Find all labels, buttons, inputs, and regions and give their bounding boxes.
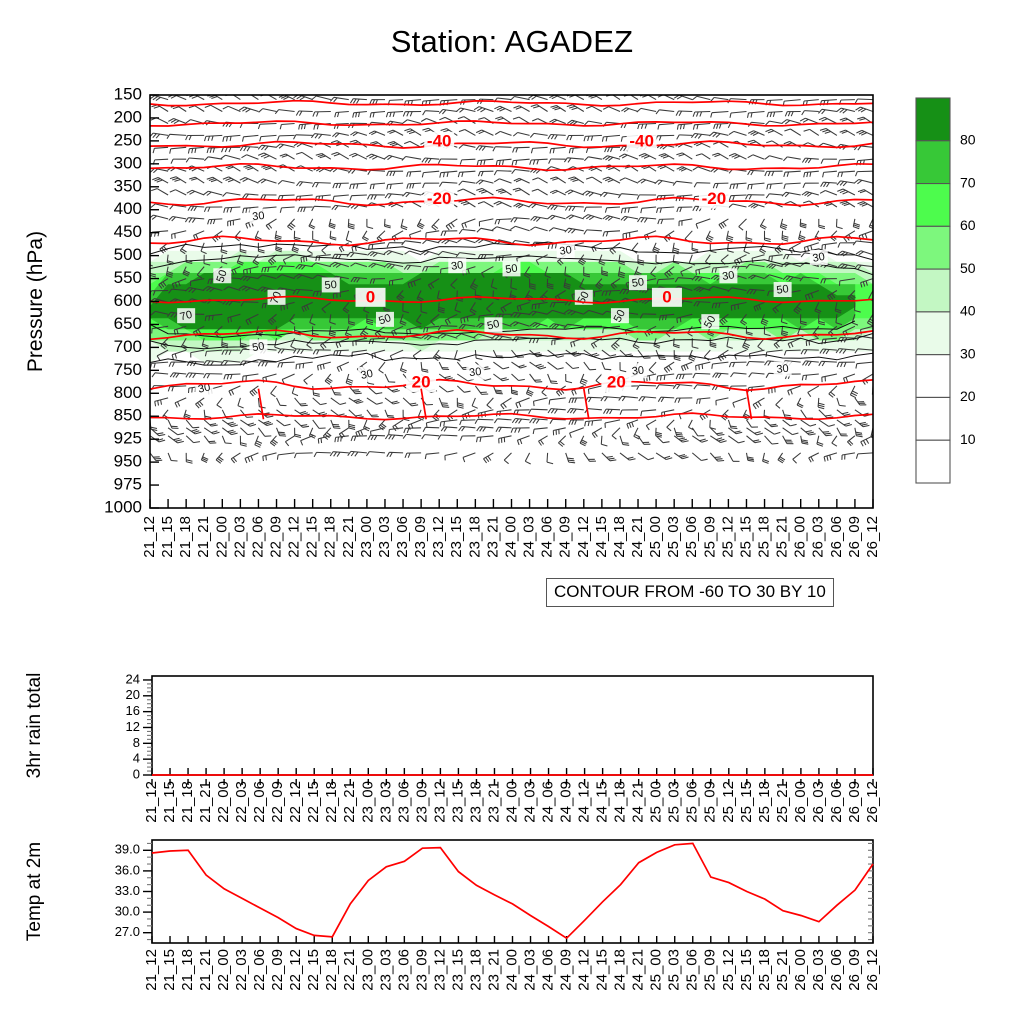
wind-barb bbox=[710, 453, 724, 461]
humidity-contour-label: 30 bbox=[360, 368, 374, 382]
pressure-tick-label: 500 bbox=[114, 245, 142, 264]
colorbar-tick-label: 80 bbox=[960, 131, 976, 147]
wind-barb bbox=[208, 219, 223, 224]
wind-barb bbox=[389, 428, 403, 435]
time-tick-label: 22_00 bbox=[215, 949, 232, 991]
wind-barb bbox=[258, 428, 271, 437]
wind-barb bbox=[496, 189, 512, 195]
temperature-contour bbox=[150, 164, 873, 171]
svg-text:22_12: 22_12 bbox=[287, 949, 304, 991]
colorbar-tick-label: 70 bbox=[960, 174, 976, 190]
wind-barb bbox=[592, 428, 602, 438]
wind-barb bbox=[765, 420, 778, 427]
wind-barb bbox=[496, 159, 511, 165]
wind-barb bbox=[433, 350, 440, 361]
wind-barb bbox=[385, 398, 399, 404]
wind-barb bbox=[151, 189, 168, 195]
wind-barb bbox=[547, 453, 553, 464]
wind-barb bbox=[532, 178, 547, 183]
wind-barb bbox=[475, 386, 488, 395]
time-tick-label: 23_06 bbox=[395, 781, 412, 823]
wind-barb bbox=[530, 419, 548, 424]
colorbar-band bbox=[916, 226, 950, 269]
wind-barb bbox=[584, 207, 602, 212]
wind-barb bbox=[584, 362, 596, 370]
wind-barb bbox=[644, 231, 656, 240]
wind-barb bbox=[697, 398, 711, 404]
time-tick-label: 22_00 bbox=[213, 516, 230, 558]
wind-barb bbox=[348, 451, 367, 456]
time-tick-label: 23_03 bbox=[376, 516, 393, 558]
wind-barb bbox=[477, 427, 494, 432]
temp-tick-label: 33.0 bbox=[115, 883, 140, 898]
wind-barb bbox=[658, 219, 674, 224]
wind-barb bbox=[337, 362, 349, 372]
svg-text:24_12: 24_12 bbox=[575, 516, 592, 558]
pressure-tick-label: 950 bbox=[114, 452, 142, 471]
wind-barb bbox=[463, 453, 475, 462]
wind-barb bbox=[566, 374, 572, 383]
time-tick-label: 26_09 bbox=[846, 516, 863, 558]
temperature-contour-label: -20 bbox=[702, 189, 727, 208]
wind-barb bbox=[255, 436, 262, 448]
wind-barb bbox=[658, 165, 675, 171]
wind-barb bbox=[270, 436, 277, 446]
pressure-tick-label: 300 bbox=[114, 153, 142, 172]
wind-barb bbox=[603, 177, 620, 183]
wind-barb bbox=[335, 436, 349, 442]
wind-barb bbox=[621, 207, 638, 213]
time-tick-label: 22_15 bbox=[305, 949, 322, 991]
wind-barb bbox=[730, 183, 747, 189]
wind-barb bbox=[602, 453, 616, 461]
wind-barb bbox=[446, 219, 457, 230]
time-tick-label: 22_06 bbox=[251, 949, 268, 991]
time-tick-label: 24_09 bbox=[557, 516, 574, 558]
wind-barb bbox=[266, 219, 276, 230]
svg-text:21_21: 21_21 bbox=[197, 781, 214, 823]
wind-barb bbox=[567, 105, 584, 112]
wind-barb bbox=[856, 107, 874, 112]
wind-barb bbox=[387, 171, 403, 176]
wind-barb bbox=[370, 112, 385, 118]
wind-barb bbox=[170, 373, 186, 378]
time-tick-label: 21_18 bbox=[177, 516, 194, 558]
svg-text:25_00: 25_00 bbox=[647, 516, 664, 558]
time-tick-label: 21_15 bbox=[161, 781, 178, 823]
pressure-tick-label: 450 bbox=[114, 222, 142, 241]
wind-barb bbox=[504, 453, 511, 464]
svg-text:25_18: 25_18 bbox=[756, 516, 773, 558]
svg-text:22_06: 22_06 bbox=[251, 781, 268, 823]
wind-barb bbox=[349, 153, 367, 159]
wind-barb bbox=[492, 227, 511, 231]
wind-barb bbox=[150, 362, 168, 368]
wind-barb bbox=[765, 171, 783, 176]
time-tick-label: 22_06 bbox=[251, 781, 268, 823]
wind-barb bbox=[604, 93, 620, 100]
wind-barb bbox=[766, 121, 783, 125]
wind-barb bbox=[205, 105, 223, 111]
wind-barb bbox=[143, 279, 150, 290]
wind-barb bbox=[602, 135, 620, 141]
wind-barb bbox=[802, 111, 819, 115]
humidity-contour-label: 50 bbox=[251, 340, 265, 354]
wind-barb bbox=[837, 108, 855, 113]
wind-barb bbox=[477, 436, 494, 442]
wind-barb bbox=[513, 147, 530, 152]
wind-barb bbox=[240, 410, 253, 418]
wind-barb bbox=[747, 362, 765, 367]
time-tick-label: 24_18 bbox=[612, 949, 629, 991]
svg-text:22_09: 22_09 bbox=[269, 781, 286, 823]
time-height-panel: 3050707050503050505050503050303030303050… bbox=[0, 70, 1024, 690]
wind-barb bbox=[570, 428, 584, 438]
wind-barb bbox=[601, 397, 620, 402]
wind-barb bbox=[280, 207, 294, 213]
wind-barb bbox=[584, 230, 602, 234]
wind-barb bbox=[484, 453, 494, 463]
wind-barb bbox=[368, 195, 386, 200]
time-tick-label: 25_18 bbox=[756, 949, 773, 991]
svg-text:22_18: 22_18 bbox=[323, 781, 340, 823]
wind-barb bbox=[603, 156, 620, 161]
colorbar-band bbox=[916, 312, 950, 355]
svg-text:25_18: 25_18 bbox=[756, 949, 773, 991]
colorbar-tick-label: 60 bbox=[960, 217, 976, 233]
wind-barb bbox=[474, 107, 493, 112]
svg-text:24_06: 24_06 bbox=[539, 516, 556, 558]
time-tick-label: 22_12 bbox=[287, 781, 304, 823]
wind-barb bbox=[565, 190, 584, 195]
time-tick-label: 22_03 bbox=[233, 949, 250, 991]
wind-barb bbox=[694, 183, 710, 188]
wind-barb bbox=[239, 107, 258, 112]
wind-barb bbox=[784, 129, 800, 135]
svg-text:22_06: 22_06 bbox=[251, 949, 268, 991]
wind-barb bbox=[407, 171, 421, 177]
rain-axis-title: 3hr rain total bbox=[24, 673, 45, 779]
colorbar[interactable]: 8070605040302010 bbox=[916, 98, 976, 483]
time-tick-label: 22_18 bbox=[322, 516, 339, 558]
svg-text:24_15: 24_15 bbox=[594, 781, 611, 823]
pressure-tick-label: 850 bbox=[114, 406, 142, 425]
wind-barb bbox=[550, 119, 566, 123]
wind-barb bbox=[856, 171, 874, 176]
wind-barb bbox=[439, 398, 449, 407]
svg-text:24_09: 24_09 bbox=[557, 516, 574, 558]
wind-barb bbox=[350, 99, 367, 104]
wind-barb bbox=[641, 410, 656, 416]
time-tick-label: 24_21 bbox=[629, 516, 646, 558]
wind-barb bbox=[351, 436, 367, 441]
svg-text:23_21: 23_21 bbox=[485, 949, 502, 991]
wind-barb bbox=[801, 428, 816, 435]
wind-barb bbox=[582, 191, 602, 196]
wind-barb bbox=[550, 147, 566, 153]
wind-barb bbox=[569, 398, 584, 403]
wind-barb bbox=[330, 97, 349, 102]
colorbar-tick-label: 20 bbox=[960, 388, 976, 404]
svg-text:25_15: 25_15 bbox=[737, 516, 754, 558]
wind-barb bbox=[512, 362, 527, 368]
rain-panel: 0481216202421_1221_1521_1821_2122_0022_0… bbox=[0, 645, 1024, 825]
wind-barb bbox=[691, 134, 710, 139]
wind-barb bbox=[530, 159, 548, 165]
wind-barb bbox=[801, 436, 809, 444]
wind-barb bbox=[673, 384, 692, 389]
wind-barb bbox=[871, 428, 877, 439]
wind-barb bbox=[819, 420, 835, 427]
rain-tick-label: 24 bbox=[126, 671, 140, 686]
chart-page: Station: AGADEZ 305070705050305050505050… bbox=[0, 0, 1024, 1024]
humidity-contour-label: 30 bbox=[721, 269, 735, 283]
wind-barb bbox=[186, 428, 201, 434]
wind-barb bbox=[719, 219, 729, 229]
wind-barb bbox=[330, 231, 336, 240]
wind-barb bbox=[240, 428, 254, 435]
wind-barb bbox=[494, 419, 511, 423]
wind-barb bbox=[747, 453, 755, 461]
svg-text:25_12: 25_12 bbox=[719, 516, 736, 558]
humidity-contour-label: 30 bbox=[631, 365, 644, 378]
svg-text:24_21: 24_21 bbox=[630, 949, 647, 991]
wind-barb bbox=[550, 190, 566, 195]
temperature-contour bbox=[150, 198, 873, 206]
wind-barb bbox=[439, 386, 453, 392]
wind-barb bbox=[512, 374, 525, 381]
svg-text:22_00: 22_00 bbox=[215, 781, 232, 823]
svg-text:26_12: 26_12 bbox=[864, 781, 881, 823]
wind-barb bbox=[782, 231, 788, 241]
wind-barb bbox=[223, 135, 241, 141]
temp-panel: 27.030.033.036.039.021_1221_1521_1821_21… bbox=[0, 825, 1024, 1015]
wind-barb bbox=[499, 436, 512, 444]
wind-barb bbox=[189, 177, 204, 183]
wind-barb bbox=[387, 130, 403, 135]
wind-barb bbox=[854, 180, 873, 184]
wind-barb bbox=[783, 436, 794, 444]
svg-text:24_12: 24_12 bbox=[576, 949, 593, 991]
wind-barb bbox=[549, 228, 566, 232]
time-tick-label: 25_06 bbox=[684, 949, 701, 991]
svg-text:25_09: 25_09 bbox=[701, 516, 718, 558]
time-tick-label: 23_00 bbox=[358, 516, 375, 558]
wind-barb bbox=[765, 231, 771, 242]
svg-text:23_12: 23_12 bbox=[431, 949, 448, 991]
wind-barb bbox=[513, 188, 530, 195]
wind-barb bbox=[241, 93, 258, 100]
time-tick-label: 25_00 bbox=[648, 781, 665, 823]
wind-barb bbox=[447, 410, 457, 421]
pressure-tick-label: 250 bbox=[114, 130, 142, 149]
wind-barb bbox=[692, 243, 698, 252]
wind-barb bbox=[417, 219, 424, 229]
humidity-contour-label: 30 bbox=[252, 210, 265, 223]
wind-barb bbox=[627, 420, 638, 429]
svg-text:22_15: 22_15 bbox=[305, 949, 322, 991]
wind-barb bbox=[441, 427, 457, 432]
wind-barb bbox=[171, 159, 186, 164]
wind-barb bbox=[426, 231, 439, 238]
wind-barb bbox=[512, 386, 518, 395]
wind-barb bbox=[511, 218, 530, 223]
wind-barb bbox=[349, 420, 355, 430]
svg-text:22_12: 22_12 bbox=[286, 516, 303, 558]
wind-barb bbox=[477, 228, 494, 232]
colorbar-band bbox=[916, 141, 950, 184]
wind-barb bbox=[733, 398, 747, 408]
svg-text:23_15: 23_15 bbox=[449, 949, 466, 991]
colorbar-tick-label: 30 bbox=[960, 345, 976, 361]
time-tick-label: 24_12 bbox=[575, 516, 592, 558]
wind-barb bbox=[152, 373, 168, 377]
svg-text:23_03: 23_03 bbox=[376, 516, 393, 558]
wind-barb bbox=[586, 397, 602, 402]
time-tick-label: 25_03 bbox=[666, 781, 683, 823]
wind-barb bbox=[458, 189, 476, 195]
wind-barb bbox=[873, 302, 879, 311]
wind-barb bbox=[350, 132, 367, 136]
wind-barb bbox=[844, 231, 855, 242]
time-tick-label: 23_21 bbox=[485, 781, 502, 823]
wind-barb bbox=[204, 436, 216, 443]
wind-barb bbox=[746, 195, 765, 200]
wind-barb bbox=[188, 147, 204, 153]
wind-barb bbox=[567, 409, 583, 414]
svg-text:25_15: 25_15 bbox=[738, 781, 755, 823]
temp-tick-label: 30.0 bbox=[115, 904, 140, 919]
wind-barb bbox=[240, 420, 256, 426]
wind-barb bbox=[243, 135, 259, 141]
time-tick-label: 26_03 bbox=[810, 781, 827, 823]
wind-barb bbox=[858, 190, 873, 195]
wind-barb bbox=[260, 135, 277, 141]
wind-barb bbox=[258, 153, 276, 159]
svg-text:22_18: 22_18 bbox=[323, 949, 340, 991]
wind-barb bbox=[793, 453, 801, 463]
rain-tick-label: 16 bbox=[126, 703, 140, 718]
svg-text:24_12: 24_12 bbox=[576, 781, 593, 823]
wind-barb bbox=[800, 118, 819, 123]
wind-barb bbox=[530, 374, 543, 382]
wind-barb bbox=[353, 112, 367, 118]
wind-barb bbox=[423, 427, 439, 432]
svg-text:23_21: 23_21 bbox=[485, 781, 502, 823]
wind-barb bbox=[277, 453, 294, 460]
wind-barb bbox=[514, 106, 530, 112]
time-tick-label: 22_09 bbox=[269, 949, 286, 991]
wind-barb bbox=[295, 398, 308, 406]
svg-text:26_00: 26_00 bbox=[792, 781, 809, 823]
wind-barb bbox=[600, 192, 620, 197]
wind-barb bbox=[242, 155, 259, 160]
wind-barb bbox=[167, 134, 186, 138]
humidity-contour-label: 50 bbox=[631, 276, 645, 290]
time-tick-label: 23_03 bbox=[377, 781, 394, 823]
temperature-contour-label: 0 bbox=[366, 287, 375, 306]
wind-barb bbox=[819, 219, 825, 229]
temp-tick-label: 27.0 bbox=[115, 924, 140, 939]
wind-barb bbox=[313, 231, 319, 241]
wind-barb bbox=[531, 105, 548, 112]
time-tick-label: 22_00 bbox=[215, 781, 232, 823]
wind-barb bbox=[601, 436, 607, 446]
time-tick-label: 25_12 bbox=[720, 781, 737, 823]
wind-barb bbox=[275, 231, 282, 241]
wind-barb bbox=[532, 189, 548, 195]
wind-barb bbox=[367, 219, 373, 229]
svg-text:24_18: 24_18 bbox=[611, 516, 628, 558]
temperature-contour-segment bbox=[584, 389, 589, 420]
wind-barb bbox=[728, 436, 744, 443]
time-tick-label: 21_15 bbox=[161, 949, 178, 991]
wind-barb bbox=[689, 350, 696, 361]
pressure-tick-label: 925 bbox=[114, 429, 142, 448]
wind-barb bbox=[856, 251, 873, 255]
wind-barb bbox=[638, 453, 654, 460]
wind-barb bbox=[479, 219, 493, 227]
temp-axes: 27.030.033.036.039.021_1221_1521_1821_21… bbox=[24, 840, 881, 991]
wind-barb bbox=[245, 453, 258, 463]
wind-barb bbox=[168, 119, 186, 124]
time-tick-label: 25_15 bbox=[738, 781, 755, 823]
wind-barb bbox=[784, 171, 801, 177]
svg-text:21_21: 21_21 bbox=[197, 949, 214, 991]
wind-barb bbox=[673, 243, 680, 254]
wind-barb bbox=[385, 410, 394, 418]
wind-barb bbox=[568, 177, 584, 183]
time-tick-label: 25_18 bbox=[756, 516, 773, 558]
wind-barb bbox=[439, 362, 449, 369]
wind-barb bbox=[817, 436, 823, 446]
rain-tick-label: 8 bbox=[133, 735, 140, 750]
wind-barb bbox=[459, 200, 476, 207]
time-tick-label: 23_12 bbox=[431, 781, 448, 823]
pressure-tick-label: 600 bbox=[114, 291, 142, 310]
wind-barb bbox=[556, 386, 565, 396]
time-tick-label: 21_21 bbox=[197, 949, 214, 991]
wind-barb bbox=[824, 453, 837, 462]
wind-barb bbox=[458, 171, 475, 177]
wind-barb bbox=[494, 201, 512, 207]
wind-barb bbox=[476, 188, 493, 195]
time-tick-label: 23_21 bbox=[484, 516, 501, 558]
wind-barb bbox=[694, 142, 710, 147]
wind-barb bbox=[418, 410, 424, 420]
wind-barb bbox=[784, 183, 801, 189]
wind-barb bbox=[753, 398, 764, 409]
svg-text:26_03: 26_03 bbox=[810, 516, 827, 558]
wind-barb bbox=[620, 453, 636, 460]
wind-barb bbox=[713, 183, 728, 188]
time-tick-label: 23_21 bbox=[485, 949, 502, 991]
wind-barb bbox=[207, 177, 223, 183]
wind-barb bbox=[329, 219, 336, 229]
svg-text:24_09: 24_09 bbox=[558, 949, 575, 991]
wind-barb bbox=[296, 111, 312, 116]
wind-barb bbox=[240, 123, 258, 128]
colorbar-tick-label: 50 bbox=[960, 260, 976, 276]
time-tick-label: 23_03 bbox=[377, 949, 394, 991]
time-tick-label: 22_12 bbox=[286, 516, 303, 558]
wind-barb bbox=[622, 93, 638, 100]
wind-barb bbox=[821, 182, 837, 187]
temperature-contour-label: 20 bbox=[607, 373, 626, 392]
wind-barb bbox=[240, 178, 259, 184]
wind-barb bbox=[379, 362, 385, 373]
wind-barb bbox=[739, 219, 747, 230]
